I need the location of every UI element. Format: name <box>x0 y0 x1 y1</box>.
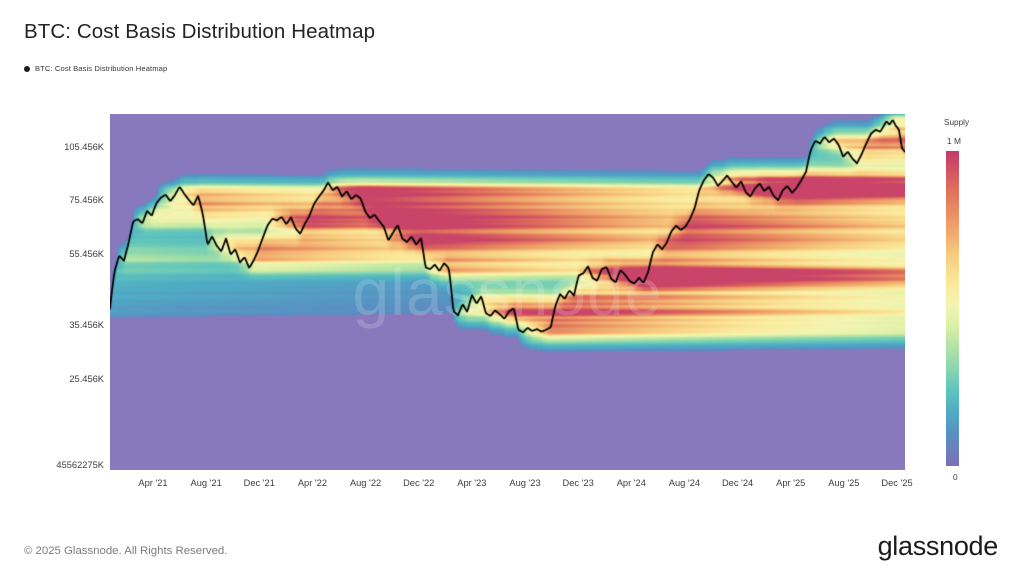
heatmap-plot[interactable]: glassnode <box>110 114 905 470</box>
colorbar-title: Supply <box>944 118 969 127</box>
x-axis-tick: Aug '23 <box>509 478 540 488</box>
x-axis-tick: Apr '22 <box>298 478 327 488</box>
y-axis-tick: 75.456K <box>4 195 104 205</box>
y-axis-tick: 55.456K <box>4 249 104 259</box>
x-axis-tick: Aug '21 <box>191 478 222 488</box>
x-axis-tick: Aug '22 <box>350 478 381 488</box>
copyright-text: © 2025 Glassnode. All Rights Reserved. <box>24 545 227 557</box>
x-axis-tick: Dec '24 <box>722 478 753 488</box>
chart-area: 105.456K75.456K55.456K35.456K25.456K4556… <box>0 0 1024 505</box>
x-axis-tick: Aug '25 <box>828 478 859 488</box>
x-axis: Apr '21Aug '21Dec '21Apr '22Aug '22Dec '… <box>110 478 905 498</box>
x-axis-tick: Apr '23 <box>457 478 486 488</box>
x-axis-tick: Dec '23 <box>563 478 594 488</box>
x-axis-tick: Dec '22 <box>403 478 434 488</box>
x-axis-tick: Dec '25 <box>881 478 912 488</box>
x-axis-tick: Aug '24 <box>669 478 700 488</box>
footer: © 2025 Glassnode. All Rights Reserved. g… <box>0 505 1024 576</box>
y-axis-tick: 35.456K <box>4 320 104 330</box>
colorbar-gradient <box>946 151 959 466</box>
y-axis-tick: 105.456K <box>4 142 104 152</box>
price-line-layer <box>110 114 905 470</box>
x-axis-tick: Apr '24 <box>617 478 646 488</box>
y-axis-tick: 25.456K <box>4 374 104 384</box>
y-axis: 105.456K75.456K55.456K35.456K25.456K4556… <box>0 0 104 505</box>
colorbar-min-label: 0 <box>953 472 958 482</box>
x-axis-tick: Apr '25 <box>776 478 805 488</box>
y-axis-tick: 45562275K <box>4 460 104 470</box>
colorbar-max-label: 1 M <box>947 136 961 146</box>
colorbar: Supply 1 M 0 <box>926 114 1016 494</box>
glassnode-logo: glassnode <box>878 531 998 562</box>
x-axis-tick: Apr '21 <box>138 478 167 488</box>
x-axis-tick: Dec '21 <box>244 478 275 488</box>
